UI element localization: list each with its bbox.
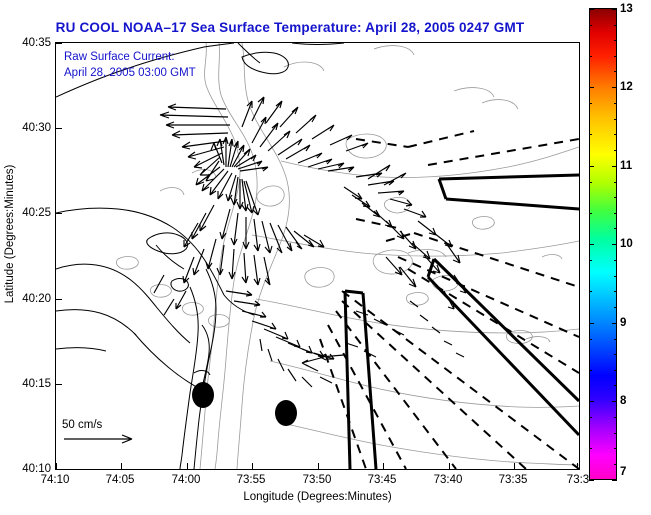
x-tick-mark — [121, 463, 122, 469]
figure-title: RU COOL NOAA–17 Sea Surface Temperature:… — [0, 20, 580, 35]
map-canvas — [56, 43, 579, 469]
colorbar-tick-mark — [612, 87, 617, 88]
y-tick-mark — [56, 128, 62, 129]
colorbar-minor-tick — [589, 339, 592, 340]
colorbar-minor-tick — [614, 103, 617, 104]
colorbar-minor-tick — [614, 40, 617, 41]
colorbar-tick-mark — [612, 480, 617, 481]
colorbar-tick-mark — [589, 9, 594, 10]
x-tick-label: 74:00 — [156, 474, 216, 486]
x-tick-label: 74:10 — [25, 474, 85, 486]
y-tick-label: 40:15 — [5, 378, 51, 390]
x-tick-label: 73:45 — [352, 474, 412, 486]
colorbar-minor-tick — [614, 197, 617, 198]
colorbar-tick-label: 13 — [620, 3, 633, 15]
x-tick-label: 73:50 — [287, 474, 347, 486]
x-tick-mark — [383, 463, 384, 469]
colorbar-minor-tick — [589, 370, 592, 371]
colorbar-minor-tick — [614, 276, 617, 277]
y-tick-mark — [56, 213, 62, 214]
colorbar-tick-mark — [589, 323, 594, 324]
colorbar-minor-tick — [614, 213, 617, 214]
colorbar-minor-tick — [614, 134, 617, 135]
y-axis-title: Latitude (Degrees:Minutes) — [4, 134, 16, 334]
x-tick-mark — [252, 463, 253, 469]
scale-bar-label: 50 cm/s — [62, 419, 140, 431]
colorbar-minor-tick — [589, 134, 592, 135]
colorbar-minor-tick — [589, 448, 592, 449]
colorbar-minor-tick — [589, 25, 592, 26]
colorbar-minor-tick — [589, 56, 592, 57]
x-tick-label: 73:35 — [483, 474, 543, 486]
y-tick-mark — [56, 384, 62, 385]
colorbar-tick-mark — [589, 87, 594, 88]
colorbar-tick-label: 10 — [620, 238, 633, 250]
current-annotation: Raw Surface Current: April 28, 2005 03:0… — [64, 49, 196, 81]
colorbar-minor-tick — [614, 354, 617, 355]
x-tick-label: 73:55 — [221, 474, 281, 486]
colorbar-tick-label: 8 — [620, 395, 626, 407]
x-tick-label: 74:05 — [90, 474, 150, 486]
colorbar-minor-tick — [614, 56, 617, 57]
colorbar-minor-tick — [614, 433, 617, 434]
colorbar-minor-tick — [589, 182, 592, 183]
colorbar-tick-mark — [612, 244, 617, 245]
x-tick-label: 73:40 — [418, 474, 478, 486]
colorbar-minor-tick — [614, 385, 617, 386]
colorbar-tick-mark — [612, 323, 617, 324]
y-tick-label: 40:35 — [5, 37, 51, 49]
colorbar-tick-mark — [612, 9, 617, 10]
x-axis-ticks: 74:10 74:05 74:00 73:55 73:50 73:45 73:4… — [0, 474, 651, 492]
colorbar-minor-tick — [614, 370, 617, 371]
colorbar-minor-tick — [614, 291, 617, 292]
colorbar-tick-label: 7 — [620, 466, 626, 478]
colorbar-minor-tick — [589, 213, 592, 214]
colorbar-minor-tick — [614, 71, 617, 72]
colorbar-minor-tick — [614, 339, 617, 340]
x-tick-mark — [577, 463, 578, 469]
colorbar-minor-tick — [614, 417, 617, 418]
colorbar-tick-mark — [612, 166, 617, 167]
x-tick-mark — [514, 463, 515, 469]
colorbar-minor-tick — [614, 150, 617, 151]
velocity-scale-bar: 50 cm/s — [62, 419, 140, 451]
colorbar-ticks: 13 12 11 10 9 8 7 — [589, 0, 651, 515]
y-tick-mark — [56, 299, 62, 300]
colorbar-tick-label: 11 — [620, 160, 632, 172]
station-markers — [192, 382, 297, 426]
colorbar-minor-tick — [589, 260, 592, 261]
colorbar-minor-tick — [614, 464, 617, 465]
y-tick-mark — [56, 469, 62, 470]
y-tick-label: 40:30 — [5, 122, 51, 134]
colorbar-minor-tick — [614, 25, 617, 26]
scale-bar-arrow-icon — [62, 432, 140, 446]
x-tick-mark — [187, 463, 188, 469]
colorbar-tick-label: 9 — [620, 317, 626, 329]
colorbar-tick-mark — [589, 401, 594, 402]
colorbar-tick-mark — [589, 244, 594, 245]
y-tick-mark — [56, 43, 62, 44]
colorbar-tick-mark — [589, 166, 594, 167]
colorbar-minor-tick — [614, 448, 617, 449]
x-tick-mark — [449, 463, 450, 469]
colorbar-minor-tick — [614, 228, 617, 229]
annotation-line-1: Raw Surface Current: — [64, 49, 196, 65]
annotation-line-2: April 28, 2005 03:00 GMT — [64, 65, 196, 81]
colorbar-tick-label: 12 — [620, 81, 633, 93]
x-axis-title: Longitude (Degrees:Minutes) — [55, 491, 580, 503]
colorbar-minor-tick — [614, 307, 617, 308]
colorbar-tick-mark — [589, 480, 594, 481]
colorbar-minor-tick — [589, 291, 592, 292]
colorbar-minor-tick — [614, 260, 617, 261]
plot-area[interactable]: Raw Surface Current: April 28, 2005 03:0… — [55, 42, 580, 470]
colorbar-minor-tick — [589, 417, 592, 418]
colorbar-minor-tick — [589, 103, 592, 104]
surface-current-vectors — [154, 97, 466, 387]
colorbar-minor-tick — [614, 182, 617, 183]
sst-map-figure: RU COOL NOAA–17 Sea Surface Temperature:… — [0, 0, 651, 515]
x-tick-mark — [318, 463, 319, 469]
colorbar-tick-mark — [612, 401, 617, 402]
colorbar-minor-tick — [614, 119, 617, 120]
